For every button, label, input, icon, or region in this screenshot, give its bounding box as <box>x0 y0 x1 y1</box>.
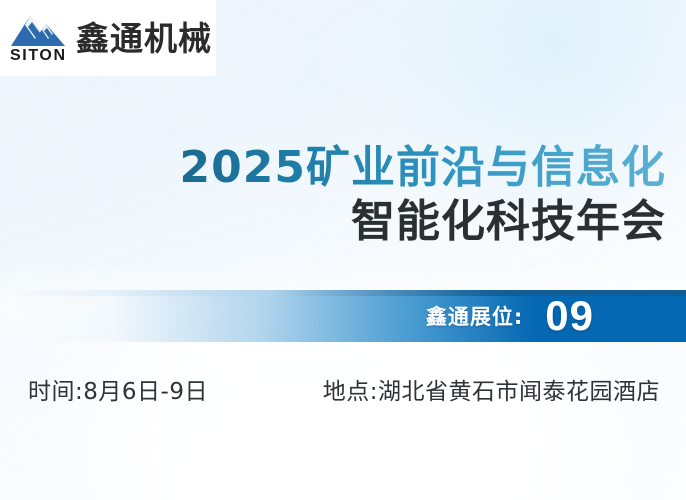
event-date: 时间:8月6日-9日 <box>28 372 208 406</box>
event-title-line-1: 2025矿业前沿与信息化 <box>0 142 666 194</box>
event-title: 2025矿业前沿与信息化 智能化科技年会 <box>0 142 666 248</box>
event-poster: SITON 鑫通机械 2025矿业前沿与信息化 智能化科技年会 鑫通展位: 09… <box>0 0 686 500</box>
booth-banner: 鑫通展位: 09 <box>0 290 686 342</box>
bottom-glow <box>0 340 686 500</box>
logo-chinese-name: 鑫通机械 <box>76 22 212 55</box>
mountain-logo-icon: SITON <box>8 10 68 66</box>
brand-logo: SITON 鑫通机械 <box>0 0 216 76</box>
event-title-line-2: 智能化科技年会 <box>0 196 666 248</box>
logo-latin-name: SITON <box>10 47 67 65</box>
booth-label: 鑫通展位: <box>426 301 523 331</box>
event-venue: 地点:湖北省黄石市闻泰花园酒店 <box>323 372 660 406</box>
event-info-row: 时间:8月6日-9日 地点:湖北省黄石市闻泰花园酒店 <box>28 372 660 406</box>
booth-number: 09 <box>545 295 594 337</box>
